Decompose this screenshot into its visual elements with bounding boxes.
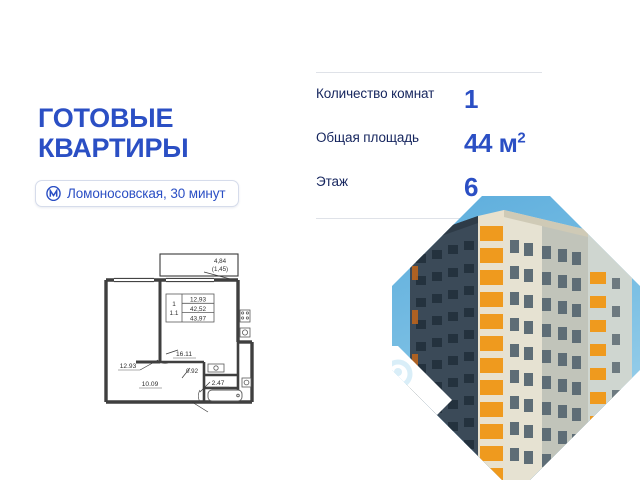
spec-row-area: Общая площадь 44 м2 (316, 130, 542, 164)
balcony-coefficient-label: (1,45) (212, 266, 228, 273)
spec-label-rooms: Количество комнат (316, 86, 464, 102)
page-title-line-1: ГОТОВЫЕ (38, 103, 189, 133)
metro-station-label: Ломоносовская, 30 минут (67, 186, 226, 201)
spec-divider-top (316, 72, 542, 73)
bathroom-area-label: 2.47 (212, 380, 225, 387)
spec-value-area: 44 м2 (464, 130, 525, 156)
legend-living-area: 12,93 (190, 297, 206, 304)
legend-rooms: 1 (172, 301, 176, 308)
closet-area-label: 0.92 (186, 368, 199, 375)
spec-label-area: Общая площадь (316, 130, 464, 146)
legend-area-without-balcony: 42,52 (190, 306, 206, 313)
spec-value-area-unit: 2 (517, 129, 525, 146)
metro-station-badge[interactable]: Ломоносовская, 30 минут (35, 180, 239, 207)
spec-row-rooms: Количество комнат 1 (316, 86, 542, 120)
promo-card: ГОТОВЫЕ КВАРТИРЫ Ломоносовская, 30 минут… (0, 0, 640, 480)
living-room-area-label: 12.93 (120, 363, 137, 370)
building-photo-artwork (392, 196, 640, 480)
legend-type: 1.1 (170, 310, 179, 317)
metro-m-icon (46, 186, 61, 201)
spec-value-rooms: 1 (464, 86, 478, 112)
hall-area-label: 16.11 (176, 351, 192, 358)
spec-label-floor: Этаж (316, 174, 464, 190)
legend-total-area: 43,97 (190, 315, 206, 322)
floor-plan: 4,84 (1,45) (96, 250, 280, 415)
kitchen-area-label: 10.09 (142, 381, 159, 388)
page-title: ГОТОВЫЕ КВАРТИРЫ (38, 103, 189, 163)
page-title-line-2: КВАРТИРЫ (38, 133, 189, 163)
balcony-area-label: 4,84 (214, 258, 227, 265)
